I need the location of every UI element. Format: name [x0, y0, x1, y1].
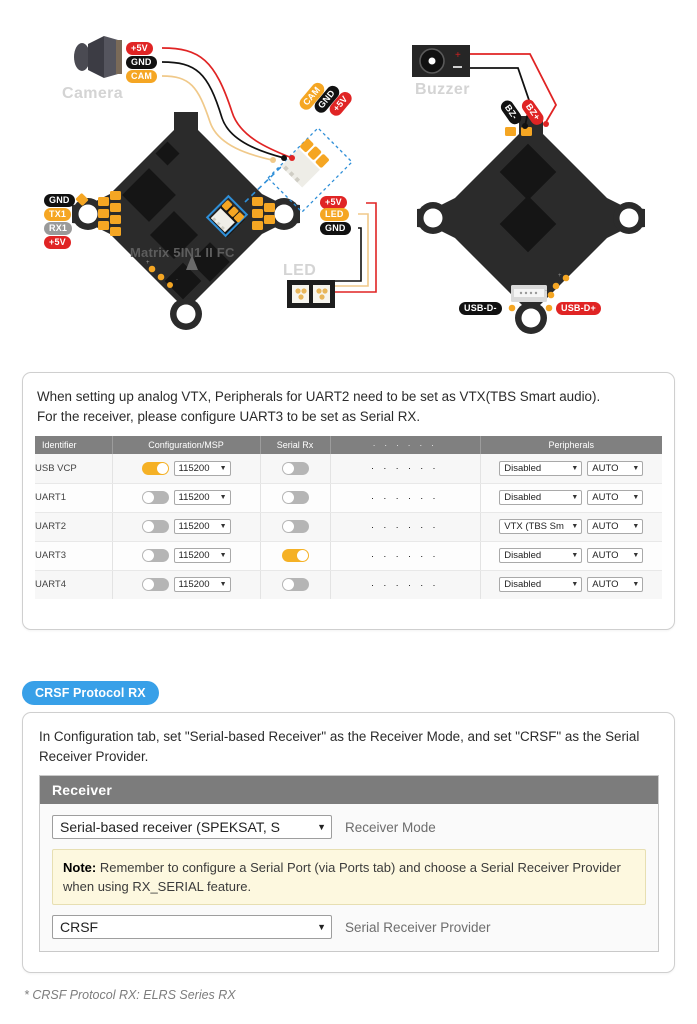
- serial-rx-toggle[interactable]: [282, 462, 309, 475]
- row-dots: · · · · · ·: [330, 541, 480, 570]
- svg-text:-: -: [176, 277, 178, 283]
- row-identifier: UART4: [35, 570, 112, 599]
- table-row: USB VCP 115200▼ · · · · · · Disabled▼ AU…: [35, 454, 662, 483]
- col-header-peripherals: Peripherals: [480, 436, 662, 454]
- peripheral-baud-select[interactable]: AUTO▼: [587, 519, 643, 534]
- peripheral-baud-value: AUTO: [592, 521, 618, 532]
- row-identifier: UART1: [35, 483, 112, 512]
- config-msp-toggle[interactable]: [142, 462, 169, 475]
- baudrate-value: 115200: [179, 550, 210, 561]
- row-dots: · · · · · ·: [330, 454, 480, 483]
- receiver-panel: Receiver Serial-based receiver (SPEKSAT,…: [39, 775, 659, 952]
- camera-module: [74, 36, 122, 78]
- receiver-mode-select[interactable]: Serial-based receiver (SPEKSAT, S ▼: [52, 815, 332, 839]
- row-dots: · · · · · ·: [330, 570, 480, 599]
- baudrate-select[interactable]: 115200▼: [174, 461, 231, 476]
- led-label: LED: [283, 262, 316, 280]
- left-pad-label-gnd: GND: [44, 194, 75, 207]
- peripheral-baud-select[interactable]: AUTO▼: [587, 490, 643, 505]
- receiver-mode-row: Serial-based receiver (SPEKSAT, S ▼ Rece…: [52, 815, 646, 839]
- crsf-paragraph: In Configuration tab, set "Serial-based …: [39, 727, 659, 767]
- usb-pad-label-dminus: USB-D-: [459, 302, 502, 315]
- config-msp-toggle[interactable]: [142, 549, 169, 562]
- crsf-card: In Configuration tab, set "Serial-based …: [22, 712, 675, 973]
- serial-receiver-provider-row: CRSF ▼ Serial Receiver Provider: [52, 915, 646, 939]
- serial-rx-toggle[interactable]: [282, 491, 309, 504]
- baudrate-value: 115200: [179, 521, 210, 532]
- baudrate-select[interactable]: 115200▼: [174, 577, 231, 592]
- buzzer-label: Buzzer: [415, 81, 470, 99]
- peripheral-baud-select[interactable]: AUTO▼: [587, 577, 643, 592]
- chevron-down-icon: ▼: [571, 494, 578, 501]
- serial-receiver-provider-value: CRSF: [60, 919, 98, 935]
- ports-table: Identifier Configuration/MSP Serial Rx ·…: [35, 436, 662, 599]
- svg-text:+: +: [146, 260, 150, 266]
- receiver-panel-title: Receiver: [40, 776, 658, 804]
- chevron-down-icon: ▼: [220, 581, 227, 588]
- row-dots: · · · · · ·: [330, 483, 480, 512]
- chevron-down-icon: ▼: [632, 465, 639, 472]
- right-pad-label-led: LED: [320, 208, 349, 221]
- peripheral-select[interactable]: VTX (TBS Sm▼: [499, 519, 582, 534]
- chevron-down-icon: ▼: [220, 494, 227, 501]
- peripheral-select[interactable]: Disabled▼: [499, 548, 582, 563]
- receiver-mode-value: Serial-based receiver (SPEKSAT, S: [60, 819, 280, 835]
- row-identifier: USB VCP: [35, 454, 112, 483]
- table-row: UART4 115200▼ · · · · · · Disabled▼ AUTO…: [35, 570, 662, 599]
- row-identifier: UART3: [35, 541, 112, 570]
- buzzer-module: +: [412, 45, 470, 77]
- baudrate-value: 115200: [179, 579, 210, 590]
- peripheral-baud-value: AUTO: [592, 492, 618, 503]
- camera-wire-label-cam: CAM: [126, 70, 157, 83]
- table-row: UART3 115200▼ · · · · · · Disabled▼ AUTO…: [35, 541, 662, 570]
- chevron-down-icon: ▼: [571, 523, 578, 530]
- camera-wire-label-gnd: GND: [126, 56, 157, 69]
- peripheral-select[interactable]: Disabled▼: [499, 490, 582, 505]
- chevron-down-icon: ▼: [632, 552, 639, 559]
- chevron-down-icon: ▼: [220, 552, 227, 559]
- chevron-down-icon: ▼: [317, 922, 326, 932]
- config-msp-toggle[interactable]: [142, 491, 169, 504]
- peripheral-value: Disabled: [504, 579, 541, 590]
- receiver-note-prefix: Note:: [63, 860, 96, 875]
- receiver-note: Note: Remember to configure a Serial Por…: [52, 849, 646, 905]
- wiring-diagram: + -: [0, 0, 697, 358]
- baudrate-value: 115200: [179, 463, 210, 474]
- chevron-down-icon: ▼: [632, 494, 639, 501]
- peripheral-value: Disabled: [504, 463, 541, 474]
- peripheral-baud-value: AUTO: [592, 579, 618, 590]
- row-identifier: UART2: [35, 512, 112, 541]
- chevron-down-icon: ▼: [317, 822, 326, 832]
- peripheral-baud-select[interactable]: AUTO▼: [587, 548, 643, 563]
- left-pad-label-tx1: TX1: [44, 208, 71, 221]
- svg-text:+: +: [455, 50, 461, 61]
- peripheral-select[interactable]: Disabled▼: [499, 461, 582, 476]
- svg-text:+: +: [558, 273, 562, 279]
- col-header-configuration-msp: Configuration/MSP: [112, 436, 260, 454]
- chevron-down-icon: ▼: [220, 523, 227, 530]
- config-msp-toggle[interactable]: [142, 578, 169, 591]
- serial-rx-toggle[interactable]: [282, 549, 309, 562]
- left-pad-label-5v: +5V: [44, 236, 71, 249]
- row-dots: · · · · · ·: [330, 512, 480, 541]
- col-header-serial-rx: Serial Rx: [260, 436, 330, 454]
- baudrate-select[interactable]: 115200▼: [174, 519, 231, 534]
- serial-receiver-provider-label: Serial Receiver Provider: [345, 920, 491, 935]
- peripheral-value: Disabled: [504, 492, 541, 503]
- col-header-dots: · · · · · ·: [330, 436, 480, 454]
- peripheral-baud-value: AUTO: [592, 463, 618, 474]
- right-pad-label-gnd: GND: [320, 222, 351, 235]
- serial-rx-toggle[interactable]: [282, 578, 309, 591]
- vtx-paragraph-1: When setting up analog VTX, Peripherals …: [37, 387, 660, 407]
- crsf-footnote: * CRSF Protocol RX: ELRS Series RX: [24, 988, 236, 1002]
- vtx-paragraph-2: For the receiver, please configure UART3…: [37, 407, 660, 427]
- peripheral-value: Disabled: [504, 550, 541, 561]
- serial-rx-toggle[interactable]: [282, 520, 309, 533]
- chevron-down-icon: ▼: [632, 581, 639, 588]
- camera-wire-label-5v: +5V: [126, 42, 153, 55]
- peripheral-baud-value: AUTO: [592, 550, 618, 561]
- led-module: [287, 280, 335, 308]
- serial-receiver-provider-select[interactable]: CRSF ▼: [52, 915, 332, 939]
- ports-table-body: USB VCP 115200▼ · · · · · · Disabled▼ AU…: [35, 454, 662, 599]
- chevron-down-icon: ▼: [571, 465, 578, 472]
- table-row: UART1 115200▼ · · · · · · Disabled▼ AUTO…: [35, 483, 662, 512]
- chevron-down-icon: ▼: [571, 552, 578, 559]
- crsf-protocol-badge: CRSF Protocol RX: [22, 681, 159, 705]
- usb-pad-label-dplus: USB-D+: [556, 302, 601, 315]
- left-fc-board: + -: [72, 36, 376, 330]
- receiver-note-text: Remember to configure a Serial Port (via…: [63, 860, 621, 894]
- col-header-identifier: Identifier: [35, 436, 112, 454]
- chevron-down-icon: ▼: [632, 523, 639, 530]
- svg-text:-: -: [545, 288, 547, 294]
- receiver-mode-label: Receiver Mode: [345, 820, 436, 835]
- baudrate-value: 115200: [179, 492, 210, 503]
- config-msp-toggle[interactable]: [142, 520, 169, 533]
- chevron-down-icon: ▼: [220, 465, 227, 472]
- left-pad-label-rx1: RX1: [44, 222, 72, 235]
- vtx-setup-card: When setting up analog VTX, Peripherals …: [22, 372, 675, 630]
- peripheral-baud-select[interactable]: AUTO▼: [587, 461, 643, 476]
- ports-table-header-row: Identifier Configuration/MSP Serial Rx ·…: [35, 436, 662, 454]
- baudrate-select[interactable]: 115200▼: [174, 548, 231, 563]
- camera-label: Camera: [62, 85, 123, 103]
- peripheral-value: VTX (TBS Sm: [504, 521, 564, 532]
- table-row: UART2 115200▼ · · · · · · VTX (TBS Sm▼ A…: [35, 512, 662, 541]
- peripheral-select[interactable]: Disabled▼: [499, 577, 582, 592]
- board-name-label: Matrix 5IN1 II FC: [130, 245, 235, 260]
- chevron-down-icon: ▼: [571, 581, 578, 588]
- baudrate-select[interactable]: 115200▼: [174, 490, 231, 505]
